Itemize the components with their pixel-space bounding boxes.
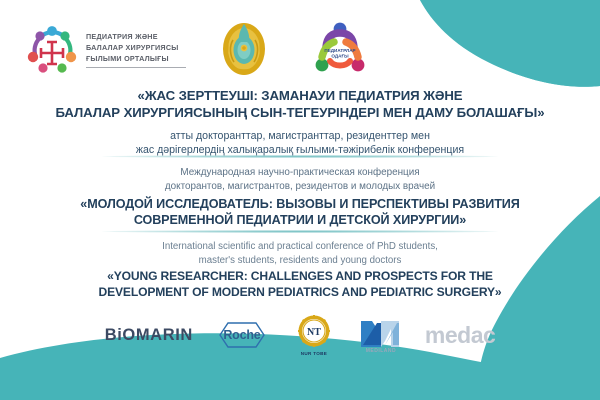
people-circle-logo-icon <box>26 24 78 74</box>
russian-title: «МОЛОДОЙ ИССЛЕДОВАТЕЛЬ: ВЫЗОВЫ И ПЕРСПЕК… <box>0 196 600 229</box>
russian-title-line-1: «МОЛОДОЙ ИССЛЕДОВАТЕЛЬ: ВЫЗОВЫ И ПЕРСПЕК… <box>0 196 600 212</box>
kazakh-subtitle: атты докторанттар, магистранттар, резиде… <box>0 129 600 158</box>
biomarin-text-suffix: OMARIN <box>122 326 193 345</box>
org-line-2: БАЛАЛАР ХИРУРГИЯСЫ <box>86 43 186 53</box>
mediland-caption: MEDILAND <box>355 348 407 354</box>
org-line-1: ПЕДИАТРИЯ ЖӘНЕ <box>86 32 186 42</box>
english-title-line-2: DEVELOPMENT OF MODERN PEDIATRICS AND PED… <box>0 285 600 301</box>
svg-text:ОДАҒЫ: ОДАҒЫ <box>331 54 349 59</box>
org-underline-rule <box>86 67 186 68</box>
english-subtitle-line-1: International scientific and practical c… <box>0 240 600 254</box>
russian-subtitle-line-1: Международная научно-практическая конфер… <box>0 166 600 180</box>
russian-title-line-2: СОВРЕМЕННОЙ ПЕДИАТРИИ И ДЕТСКОЙ ХИРУРГИИ… <box>0 212 600 228</box>
roche-label: Roche <box>211 320 273 350</box>
svg-text:ПЕДИАТРЛАР: ПЕДИАТРЛАР <box>324 48 355 53</box>
nur-tobe-monogram: NT <box>307 327 321 338</box>
section-divider-2 <box>102 230 498 233</box>
state-emblem <box>220 20 268 78</box>
org-line-3: ҒЫЛЫМИ ОРТАЛЫҒЫ <box>86 54 186 64</box>
section-divider-1 <box>102 155 498 158</box>
kazakh-title-line-2: БАЛАЛАР ХИРУРГИЯСЫНЫҢ СЫН-ТЕГЕУРІНДЕРІ М… <box>0 105 600 122</box>
english-subtitle-line-2: master's students, residents and young d… <box>0 254 600 268</box>
header-logo-row: ПЕДИАТРИЯ ЖӘНЕ БАЛАЛАР ХИРУРГИЯСЫ ҒЫЛЫМИ… <box>0 18 600 80</box>
kazakhstan-state-emblem-icon <box>220 20 268 78</box>
organization-logo: ПЕДИАТРИЯ ЖӘНЕ БАЛАЛАР ХИРУРГИЯСЫ ҒЫЛЫМИ… <box>26 24 186 74</box>
sponsor-logo-row: BiOMARIN Roche NT <box>0 312 600 358</box>
kazakh-title-line-1: «ЖАС ЗЕРТТЕУШІ: ЗАМАНАУИ ПЕДИАТРИЯ ЖӘНЕ <box>0 88 600 105</box>
sponsor-logo-nur-tobe: NT NUR TOBE <box>291 314 337 356</box>
nur-tobe-caption: NUR TOBE <box>291 351 337 356</box>
pediatricians-union-logo-icon: ПЕДИАТРЛАР ОДАҒЫ <box>310 21 370 77</box>
english-title-line-1: «YOUNG RESEARCHER: CHALLENGES AND PROSPE… <box>0 269 600 285</box>
russian-subtitle-line-2: докторантов, магистрантов, резидентов и … <box>0 180 600 194</box>
sponsor-logo-medac: medac <box>425 324 495 347</box>
organization-name-block: ПЕДИАТРИЯ ЖӘНЕ БАЛАЛАР ХИРУРГИЯСЫ ҒЫЛЫМИ… <box>86 30 186 67</box>
russian-subtitle: Международная научно-практическая конфер… <box>0 166 600 194</box>
kazakh-title: «ЖАС ЗЕРТТЕУШІ: ЗАМАНАУИ ПЕДИАТРИЯ ЖӘНЕ … <box>0 88 600 122</box>
english-subtitle: International scientific and practical c… <box>0 240 600 268</box>
conference-poster: ПЕДИАТРИЯ ЖӘНЕ БАЛАЛАР ХИРУРГИЯСЫ ҒЫЛЫМИ… <box>0 0 600 400</box>
sponsor-logo-roche: Roche <box>211 320 273 350</box>
english-title: «YOUNG RESEARCHER: CHALLENGES AND PROSPE… <box>0 269 600 300</box>
sponsor-logo-mediland: MEDILAND <box>355 315 407 355</box>
kazakh-subtitle-line-1: атты докторанттар, магистранттар, резиде… <box>0 129 600 143</box>
biomarin-text-prefix: B <box>105 326 118 345</box>
sponsor-logo-biomarin: BiOMARIN <box>105 326 193 345</box>
nur-tobe-sunburst-icon: NT <box>291 314 337 356</box>
pediatricians-union-logo: ПЕДИАТРЛАР ОДАҒЫ <box>310 21 370 77</box>
